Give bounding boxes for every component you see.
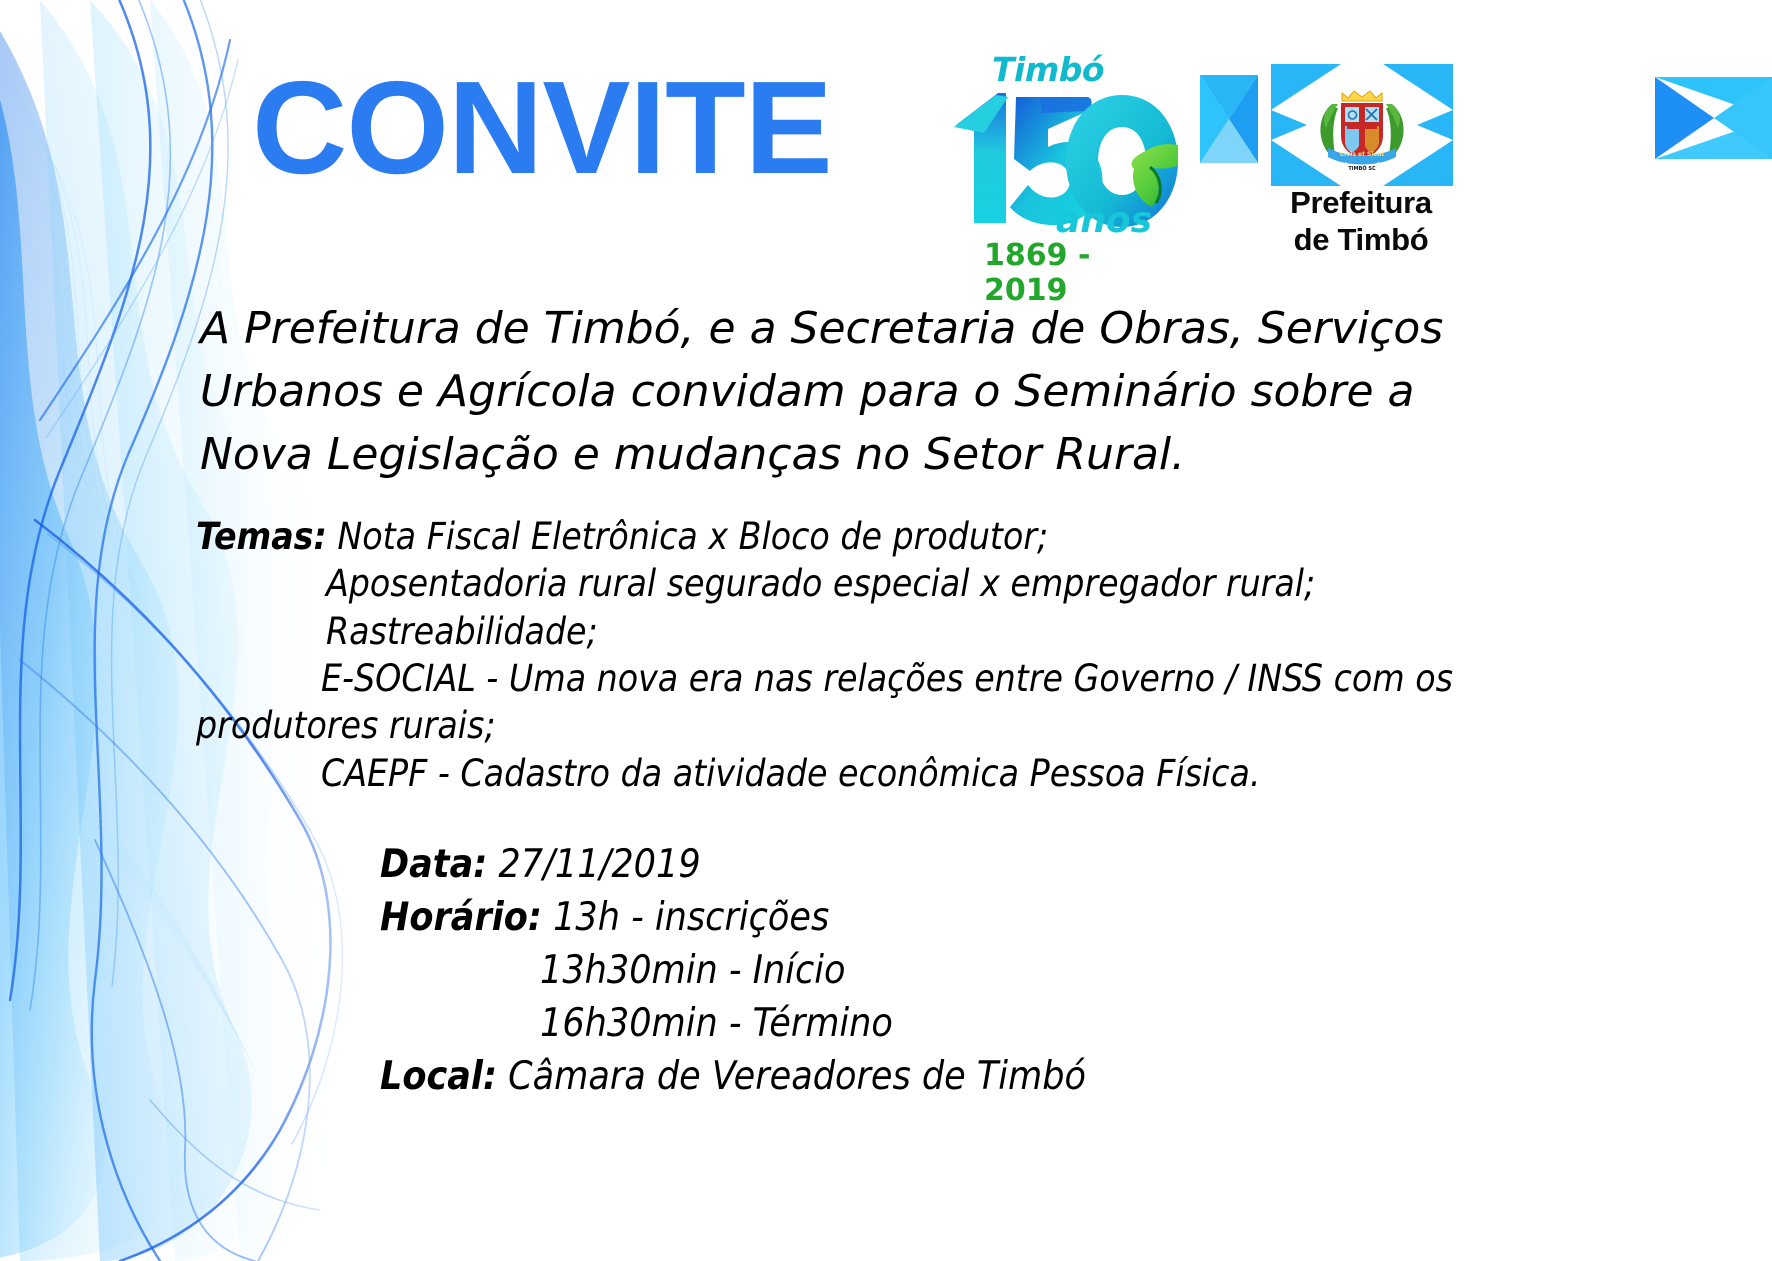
svg-text:Civis et Sicut: Civis et Sicut [1340, 151, 1384, 158]
detail-local-label: Local: [380, 1054, 497, 1099]
themes-line-5: produtores rurais; [196, 702, 1536, 749]
themes-section: Temas: Nota Fiscal Eletrônica x Bloco de… [196, 513, 1536, 797]
detail-time-label: Horário: [380, 895, 542, 940]
svg-text:TIMBÓ SC: TIMBÓ SC [1348, 165, 1376, 172]
detail-date-label: Data: [380, 842, 487, 887]
detail-time-line2: 13h30min - Início [380, 944, 1580, 997]
prefeitura-logo-text: Prefeitura de Timbó [1200, 185, 1522, 258]
themes-line-4: E-SOCIAL - Uma nova era nas relações ent… [196, 655, 1536, 702]
timbo-flag: Civis et Sicut TIMBÓ SC [1270, 63, 1454, 187]
prefeitura-line2: de Timbó [1200, 222, 1522, 259]
themes-line-1: Nota Fiscal Eletrônica x Bloco de produt… [327, 515, 1048, 558]
prefeitura-timbo-logo: Civis et Sicut TIMBÓ SC Prefeitura de Ti… [1200, 55, 1700, 260]
logo-anos-word: anos [1056, 200, 1152, 241]
detail-date-value: 27/11/2019 [487, 842, 700, 887]
timbo-150-anos-logo: Timbó [946, 50, 1178, 265]
detail-date-row: Data: 27/11/2019 [380, 838, 1580, 891]
bowtie-right-icon [1655, 77, 1772, 159]
themes-first-line: Temas: Nota Fiscal Eletrônica x Bloco de… [196, 513, 1536, 560]
prefeitura-line1: Prefeitura [1200, 185, 1522, 222]
detail-time-value: 13h - inscrições [542, 895, 829, 940]
detail-local-value: Câmara de Vereadores de Timbó [497, 1054, 1086, 1099]
detail-time-row: Horário: 13h - inscrições [380, 891, 1580, 944]
poster-header: CONVITE Timbó [0, 0, 1772, 275]
intro-line-1: A Prefeitura de Timbó, e a Secretaria de… [200, 298, 1500, 361]
event-details-section: Data: 27/11/2019 Horário: 13h - inscriçõ… [380, 838, 1580, 1103]
detail-time-line3: 16h30min - Término [380, 997, 1580, 1050]
detail-local-row: Local: Câmara de Vereadores de Timbó [380, 1050, 1580, 1103]
invitation-poster: CONVITE Timbó [0, 0, 1772, 1261]
themes-line-3: Rastreabilidade; [196, 608, 1536, 655]
intro-paragraph: A Prefeitura de Timbó, e a Secretaria de… [200, 298, 1500, 487]
themes-line-6: CAEPF - Cadastro da atividade econômica … [196, 750, 1536, 797]
page-title: CONVITE [252, 62, 832, 194]
intro-line-2: Urbanos e Agrícola convidam para o Semin… [200, 361, 1500, 424]
intro-line-3: Nova Legislação e mudanças no Setor Rura… [200, 424, 1500, 487]
themes-label: Temas: [196, 515, 327, 558]
bowtie-left-icon [1200, 75, 1258, 163]
themes-line-2: Aposentadoria rural segurado especial x … [196, 560, 1536, 607]
